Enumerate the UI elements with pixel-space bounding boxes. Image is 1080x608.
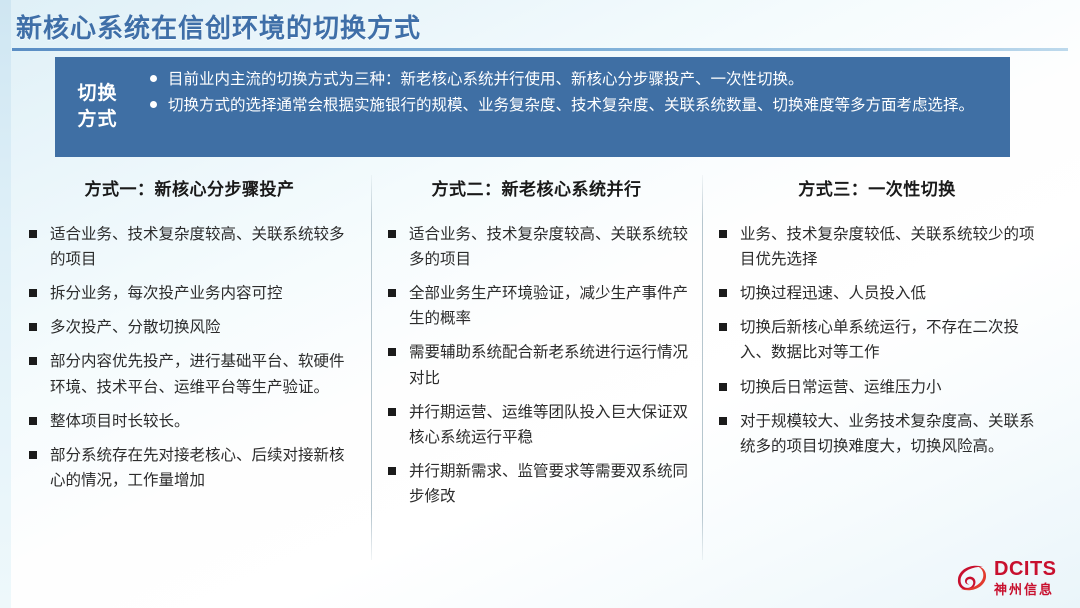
list-item-text: 适合业务、技术复杂度较高、关联系统较多的项目 [409,226,688,268]
column-bullet-list: 适合业务、技术复杂度较高、关联系统较多的项目 全部业务生产环境验证，减少生产事件… [385,222,688,509]
bullet-square-icon [29,451,37,459]
list-item-text: 拆分业务，每次投产业务内容可控 [50,285,283,302]
slide-canvas: 新核心系统在信创环境的切换方式 切换 方式 目前业内主流的切换方式为三种：新老核… [0,0,1080,608]
bullet-square-icon [719,289,727,297]
column-heading: 方式二：新老核心系统并行 [385,175,688,200]
column-heading: 方式三：一次性切换 [716,175,1038,200]
bullet-square-icon [388,408,396,416]
intro-tag-line-1: 切换 [77,81,117,107]
dcits-swirl-icon [952,558,992,598]
bullet-square-icon [29,289,37,297]
list-item: 适合业务、技术复杂度较高、关联系统较多的项目 [385,222,688,272]
list-item: 切换过程迅速、人员投入低 [716,281,1038,306]
list-item: 业务、技术复杂度较低、关联系统较少的项目优先选择 [716,222,1038,272]
list-item-text: 适合业务、技术复杂度较高、关联系统较多的项目 [50,226,345,268]
list-item: 并行期运营、运维等团队投入巨大保证双核心系统运行平稳 [385,400,688,450]
list-item-text: 切换过程迅速、人员投入低 [740,285,926,302]
list-item-text: 整体项目时长较长。 [50,413,190,430]
bullet-dot-icon [150,101,157,108]
bullet-square-icon [29,323,37,331]
list-item-text: 多次投产、分散切换风险 [50,319,221,336]
column-bullet-list: 适合业务、技术复杂度较高、关联系统较多的项目 拆分业务，每次投产业务内容可控 多… [26,222,357,493]
intro-bullet-list: 目前业内主流的切换方式为三种：新老核心系统并行使用、新核心分步骤投产、一次性切换… [140,57,1010,157]
title-underline-rule [12,48,1068,51]
intro-bullet-item: 目前业内主流的切换方式为三种：新老核心系统并行使用、新核心分步骤投产、一次性切换… [148,68,994,92]
list-item-text: 全部业务生产环境验证，减少生产事件产生的概率 [409,285,688,327]
list-item: 部分内容优先投产，进行基础平台、软硬件环境、技术平台、运维平台等生产验证。 [26,349,357,399]
list-item: 切换后新核心单系统运行，不存在二次投入、数据比对等工作 [716,315,1038,365]
list-item: 多次投产、分散切换风险 [26,315,357,340]
bullet-square-icon [29,417,37,425]
list-item: 部分系统存在先对接老核心、后续对接新核心的情况，工作量增加 [26,443,357,493]
list-item-text: 部分系统存在先对接老核心、后续对接新核心的情况，工作量增加 [50,447,345,489]
company-logo: DCITS 神州信息 [952,554,1074,602]
list-item: 整体项目时长较长。 [26,409,357,434]
bullet-square-icon [388,348,396,356]
intro-bullet-text: 切换方式的选择通常会根据实施银行的规模、业务复杂度、技术复杂度、关联系统数量、切… [168,97,974,114]
bullet-dot-icon [150,75,157,82]
page-title: 新核心系统在信创环境的切换方式 [16,8,421,45]
bullet-square-icon [29,357,37,365]
bullet-square-icon [719,383,727,391]
logo-brand-cn: 神州信息 [994,582,1057,598]
bullet-square-icon [388,467,396,475]
column-heading: 方式一：新核心分步骤投产 [26,175,357,200]
list-item: 切换后日常运营、运维压力小 [716,375,1038,400]
intro-tag-line-2: 方式 [77,107,117,133]
logo-wordmark: DCITS 神州信息 [994,559,1057,598]
bullet-square-icon [29,230,37,238]
column-bullet-list: 业务、技术复杂度较低、关联系统较少的项目优先选择 切换过程迅速、人员投入低 切换… [716,222,1038,459]
column-method-one: 方式一：新核心分步骤投产 适合业务、技术复杂度较高、关联系统较多的项目 拆分业务… [12,175,371,560]
list-item: 拆分业务，每次投产业务内容可控 [26,281,357,306]
list-item-text: 并行期新需求、监管要求等需要双系统同步修改 [409,463,688,505]
list-item: 并行期新需求、监管要求等需要双系统同步修改 [385,459,688,509]
logo-brand-en: DCITS [994,559,1057,579]
bullet-square-icon [388,230,396,238]
list-item-text: 切换后日常运营、运维压力小 [740,379,942,396]
intro-bullet-item: 切换方式的选择通常会根据实施银行的规模、业务复杂度、技术复杂度、关联系统数量、切… [148,94,994,118]
list-item: 对于规模较大、业务技术复杂度高、关联系统多的项目切换难度大，切换风险高。 [716,409,1038,459]
bullet-square-icon [719,323,727,331]
intro-tag: 切换 方式 [55,57,140,157]
list-item-text: 对于规模较大、业务技术复杂度高、关联系统多的项目切换难度大，切换风险高。 [740,413,1035,455]
left-edge-stripe [0,0,11,608]
intro-panel: 切换 方式 目前业内主流的切换方式为三种：新老核心系统并行使用、新核心分步骤投产… [55,57,1010,157]
column-method-two: 方式二：新老核心系统并行 适合业务、技术复杂度较高、关联系统较多的项目 全部业务… [371,175,702,560]
list-item-text: 业务、技术复杂度较低、关联系统较少的项目优先选择 [740,226,1035,268]
list-item: 需要辅助系统配合新老系统进行运行情况对比 [385,340,688,390]
list-item-text: 切换后新核心单系统运行，不存在二次投入、数据比对等工作 [740,319,1019,361]
list-item: 适合业务、技术复杂度较高、关联系统较多的项目 [26,222,357,272]
intro-bullet-text: 目前业内主流的切换方式为三种：新老核心系统并行使用、新核心分步骤投产、一次性切换… [168,71,804,88]
bullet-square-icon [388,289,396,297]
list-item: 全部业务生产环境验证，减少生产事件产生的概率 [385,281,688,331]
bullet-square-icon [719,230,727,238]
list-item-text: 需要辅助系统配合新老系统进行运行情况对比 [409,344,688,386]
list-item-text: 并行期运营、运维等团队投入巨大保证双核心系统运行平稳 [409,404,688,446]
bullet-square-icon [719,417,727,425]
comparison-columns: 方式一：新核心分步骤投产 适合业务、技术复杂度较高、关联系统较多的项目 拆分业务… [12,175,1068,560]
column-method-three: 方式三：一次性切换 业务、技术复杂度较低、关联系统较少的项目优先选择 切换过程迅… [702,175,1052,560]
list-item-text: 部分内容优先投产，进行基础平台、软硬件环境、技术平台、运维平台等生产验证。 [50,353,345,395]
